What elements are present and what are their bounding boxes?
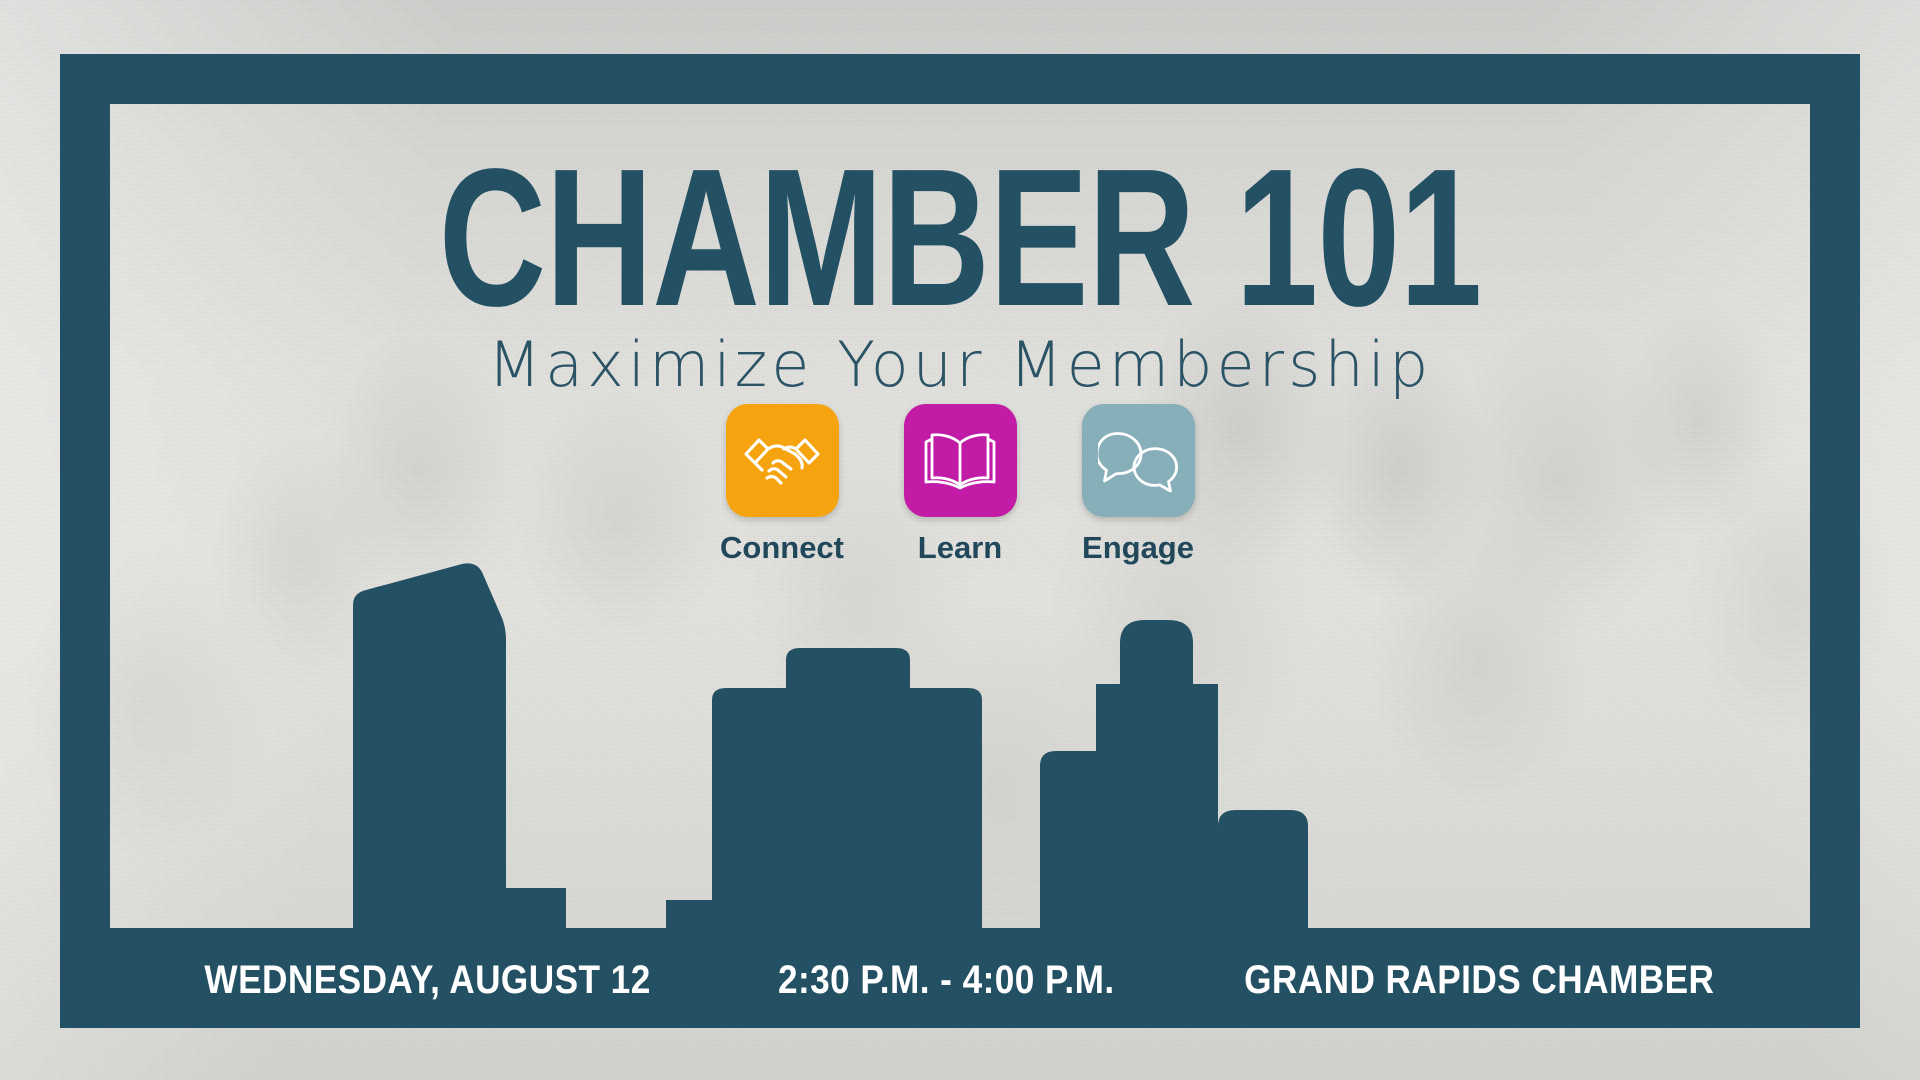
handshake-icon <box>743 430 821 492</box>
engage-tile <box>1082 404 1195 517</box>
open-book-icon <box>921 429 999 493</box>
pillar-tiles: Connect Learn Engage <box>0 404 1920 566</box>
pillar-learn: Learn <box>890 404 1030 566</box>
connect-label: Connect <box>720 530 844 566</box>
headline-text: CHAMBER 101 <box>439 152 1482 324</box>
connect-tile <box>726 404 839 517</box>
footer-bar: WEDNESDAY, AUGUST 12 2:30 P.M. - 4:00 P.… <box>60 928 1860 1028</box>
learn-tile <box>904 404 1017 517</box>
poster: CHAMBER 101 Maximize Your Membership <box>0 0 1920 1080</box>
page-title: CHAMBER 101 <box>0 152 1920 324</box>
event-time: 2:30 P.M. - 4:00 P.M. <box>778 958 1115 1003</box>
speech-bubbles-icon <box>1098 429 1178 493</box>
page-subtitle: Maximize Your Membership <box>0 328 1920 401</box>
engage-label: Engage <box>1082 530 1194 566</box>
pillar-connect: Connect <box>712 404 852 566</box>
pillar-engage: Engage <box>1068 404 1208 566</box>
subtitle-text: Maximize Your Membership <box>488 328 1433 401</box>
learn-label: Learn <box>918 530 1002 566</box>
event-location: GRAND RAPIDS CHAMBER <box>1244 958 1714 1003</box>
event-date: WEDNESDAY, AUGUST 12 <box>204 958 650 1003</box>
